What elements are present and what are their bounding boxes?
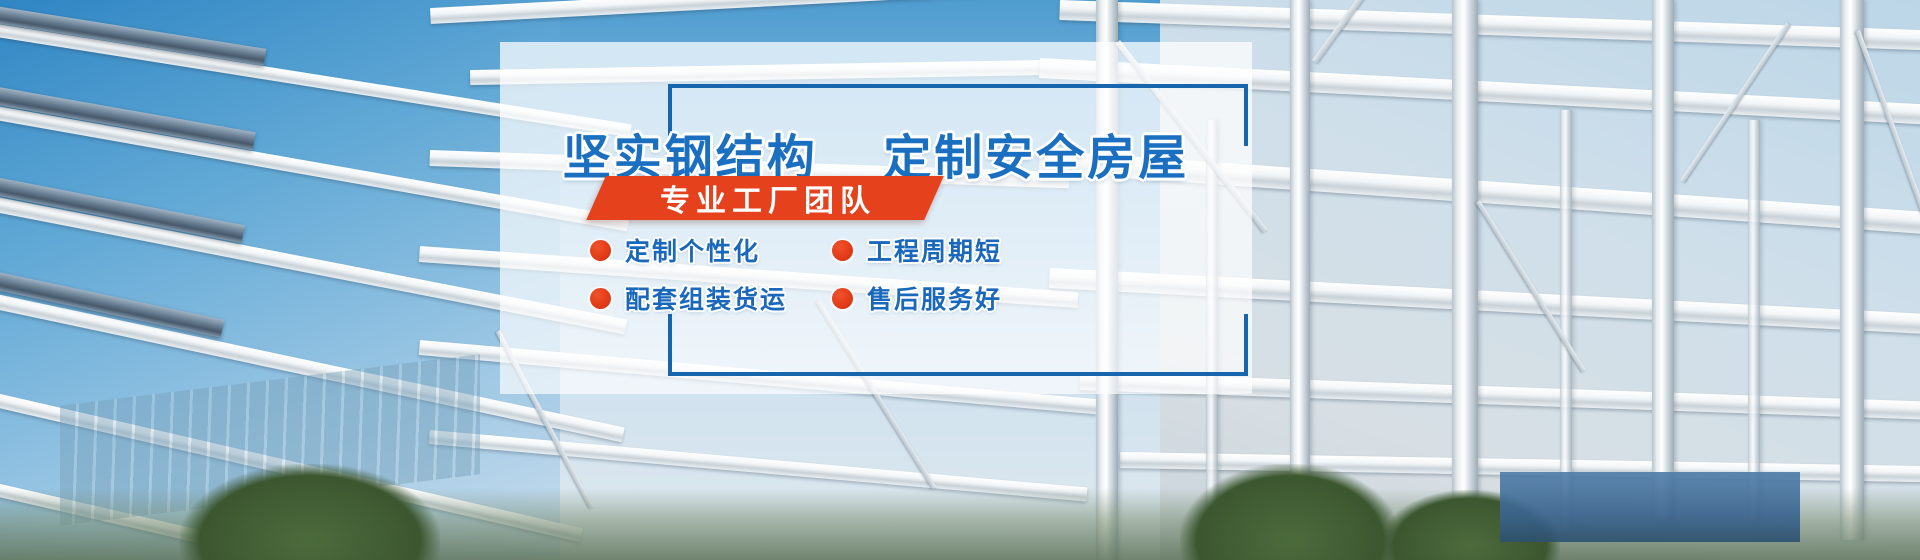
feature-item-0: 定制个性化 (590, 232, 800, 268)
feature-label: 定制个性化 (625, 232, 760, 268)
feature-label: 配套组装货运 (625, 280, 787, 316)
feature-label: 工程周期短 (867, 232, 1002, 268)
bullet-dot-icon (832, 288, 853, 309)
feature-item-1: 工程周期短 (832, 232, 1032, 268)
bullet-dot-icon (832, 240, 853, 261)
tree-cluster-right (1180, 464, 1400, 560)
tree-cluster-left (180, 464, 440, 560)
bullet-dot-icon (590, 288, 611, 309)
red-ribbon-label: 专业工厂团队 (596, 176, 934, 220)
feature-label: 售后服务好 (867, 280, 1002, 316)
bullet-dot-icon (590, 240, 611, 261)
feature-item-2: 配套组装货运 (590, 280, 800, 316)
blue-shed (1500, 472, 1800, 542)
feature-list: 定制个性化 工程周期短 配套组装货运 售后服务好 (590, 228, 1230, 320)
feature-item-3: 售后服务好 (832, 280, 1032, 316)
hero-banner: 坚实钢结构 定制安全房屋 专业工厂团队 定制个性化 工程周期短 配套组装货运 售… (0, 0, 1920, 560)
